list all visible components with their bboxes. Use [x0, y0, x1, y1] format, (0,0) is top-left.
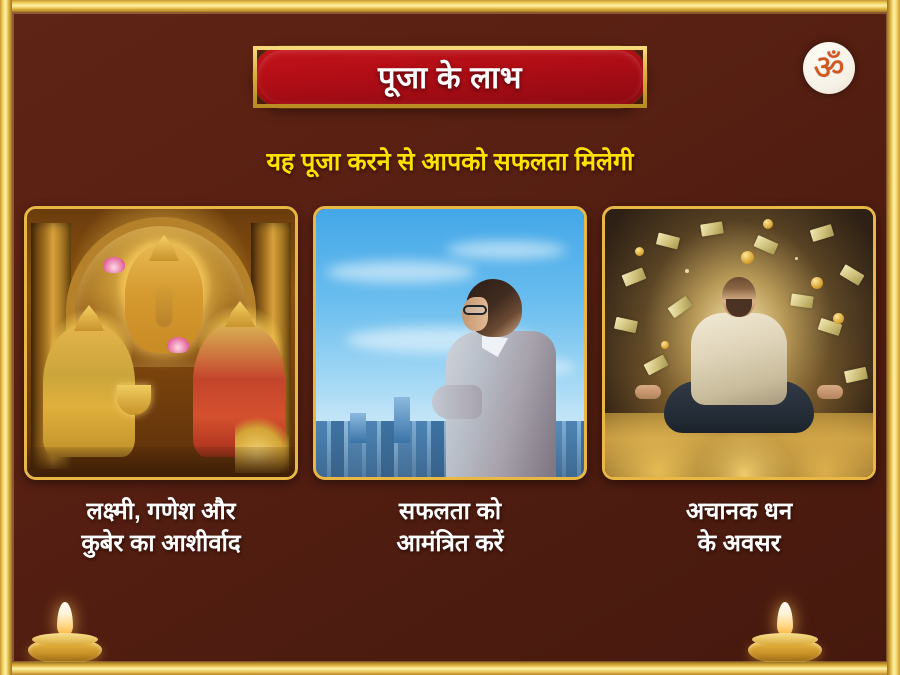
diya-lamp-icon-left — [22, 600, 108, 664]
diya-lamp-icon-right — [742, 600, 828, 664]
caption-line-1: सफलता को — [313, 496, 587, 528]
businessman-success-image — [316, 209, 584, 477]
captions-row: लक्ष्मी, गणेश और कुबेर का आशीर्वाद सफलता… — [24, 496, 876, 559]
om-icon: ॐ — [813, 51, 844, 85]
caption-line-1: लक्ष्मी, गणेश और — [24, 496, 298, 528]
poster-root: ॐ पूजा के लाभ यह पूजा करने से आपको सफलता… — [0, 0, 900, 675]
frame-border-top — [0, 0, 900, 12]
benefit-card-3[interactable] — [602, 206, 876, 480]
benefit-card-1[interactable] — [24, 206, 298, 480]
caption-line-2: कुबेर का आशीर्वाद — [24, 528, 298, 560]
title-pill: पूजा के लाभ — [253, 46, 647, 108]
benefit-cards-row — [24, 206, 876, 482]
brand-logo[interactable]: ॐ — [803, 42, 855, 94]
caption-line-2: के अवसर — [602, 528, 876, 560]
caption-line-2: आमंत्रित करें — [313, 528, 587, 560]
sudden-wealth-meditation-image — [605, 209, 873, 477]
lakshmi-ganesh-kubera-image — [27, 209, 295, 477]
caption-card-1: लक्ष्मी, गणेश और कुबेर का आशीर्वाद — [24, 496, 298, 559]
benefit-card-2[interactable] — [313, 206, 587, 480]
caption-card-2: सफलता को आमंत्रित करें — [313, 496, 587, 559]
caption-card-3: अचानक धन के अवसर — [602, 496, 876, 559]
page-title: पूजा के लाभ — [378, 56, 522, 98]
subtitle-text: यह पूजा करने से आपको सफलता मिलेगी — [0, 144, 900, 178]
title-banner: पूजा के लाभ — [0, 46, 900, 108]
caption-line-1: अचानक धन — [602, 496, 876, 528]
